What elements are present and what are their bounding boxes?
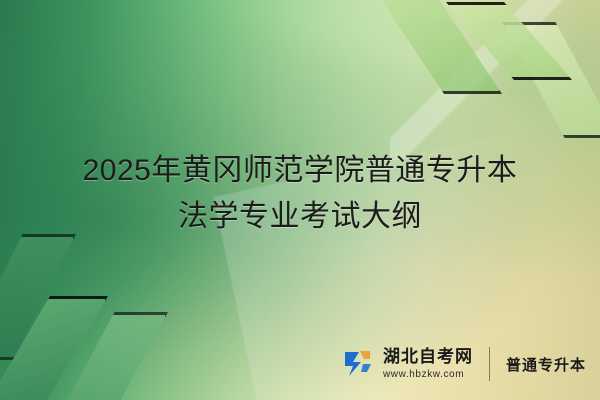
watermark-text: 湖北自考网 www.hbzkw.com (383, 348, 473, 381)
site-url: www.hbzkw.com (383, 369, 473, 380)
banner-headline: 2025年黄冈师范学院普通专升本 法学专业考试大纲 (0, 148, 600, 240)
watermark-tagline: 普通专升本 (506, 354, 586, 375)
hubei-self-study-logo-icon (339, 346, 375, 382)
watermark-divider (489, 347, 490, 381)
site-name: 湖北自考网 (383, 348, 473, 367)
promo-banner: 2025年黄冈师范学院普通专升本 法学专业考试大纲 湖北自考网 www.hbzk… (0, 0, 600, 400)
watermark: 湖北自考网 www.hbzkw.com 普通专升本 (339, 346, 586, 382)
